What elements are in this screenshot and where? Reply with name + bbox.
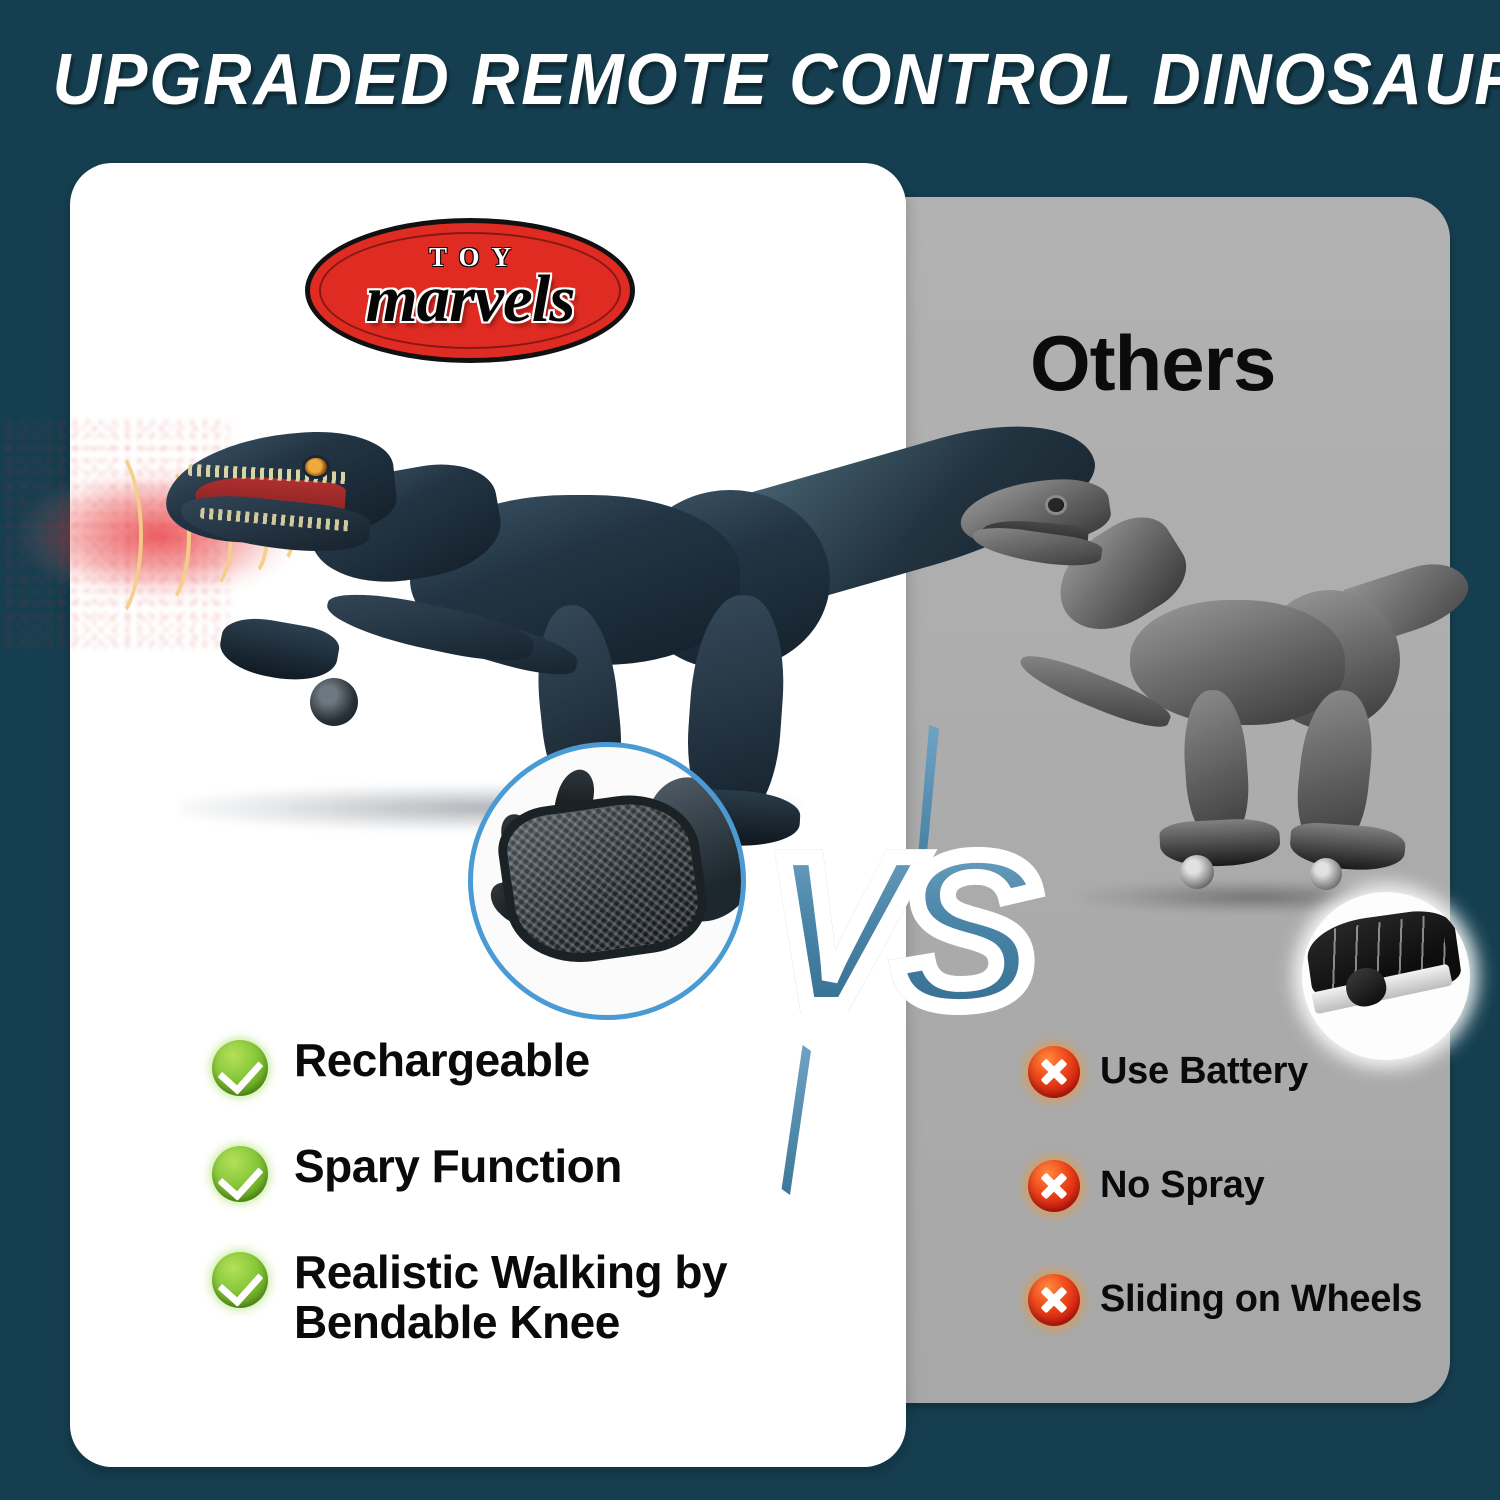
list-item: Rechargeable [212, 1040, 772, 1096]
dinosaur-front-wheel [310, 678, 358, 726]
cross-icon [1028, 1274, 1080, 1326]
check-icon [212, 1146, 268, 1202]
ours-feature-label: Rechargeable [294, 1036, 590, 1086]
brand-logo: TOY marvels [305, 218, 635, 363]
lightning-bolt-icon [781, 1045, 811, 1195]
ours-feature-list: Rechargeable Spary Function Realistic Wa… [212, 1040, 772, 1397]
others-dinosaur-back-foot [1289, 821, 1407, 873]
dinosaur-eye [305, 458, 327, 476]
check-icon [212, 1252, 268, 1308]
list-item: Spary Function [212, 1146, 772, 1202]
others-feature-label: Use Battery [1100, 1051, 1308, 1093]
others-feature-list: Use Battery No Spray Sliding on Wheels [1028, 1046, 1448, 1388]
others-heading: Others [1030, 318, 1275, 409]
others-dinosaur-eye [1048, 498, 1064, 512]
others-wheel-detail-callout [1302, 892, 1470, 1060]
dinosaur-hand [216, 612, 342, 688]
foot-rubber-pad [493, 786, 713, 972]
vs-label: VS [739, 823, 1051, 1038]
ours-feature-label: Spary Function [294, 1142, 622, 1192]
ours-feature-label: Realistic Walking by Bendable Knee [294, 1248, 772, 1347]
list-item: Sliding on Wheels [1028, 1274, 1448, 1326]
list-item: Realistic Walking by Bendable Knee [212, 1252, 772, 1347]
page-title: UPGRADED REMOTE CONTROL DINOSAUR [53, 44, 1448, 116]
others-dinosaur-wheel [1180, 855, 1214, 889]
vs-badge: VS [745, 715, 1045, 1185]
others-feature-label: Sliding on Wheels [1100, 1279, 1422, 1321]
check-icon [212, 1040, 268, 1096]
others-dinosaur-front-foot [1159, 817, 1281, 869]
others-feature-label: No Spray [1100, 1165, 1264, 1207]
list-item: Use Battery [1028, 1046, 1448, 1098]
others-dinosaur-wheel [1310, 858, 1342, 890]
ours-foot-detail-callout [468, 742, 746, 1020]
list-item: No Spray [1028, 1160, 1448, 1212]
logo-marvels-text: marvels [305, 266, 635, 333]
